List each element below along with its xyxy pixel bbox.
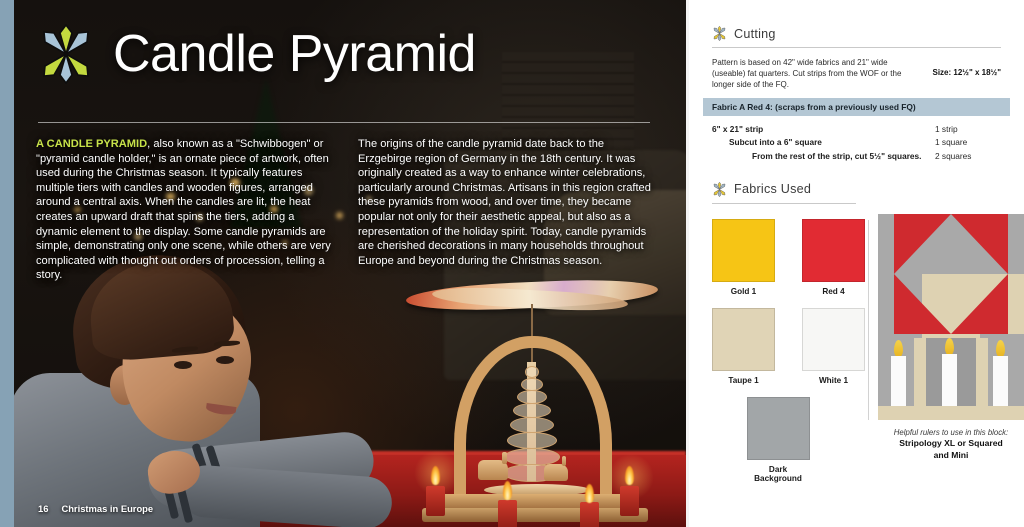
vertical-divider <box>868 220 869 420</box>
cutting-row-label: Subcut into a 6" square <box>712 136 822 149</box>
caption-bold-line-1: Stripology XL or Squared <box>878 438 1024 449</box>
swatch-red-4 <box>802 219 865 282</box>
cutting-row: 6" x 21" strip 1 strip <box>712 123 1001 136</box>
cutting-intro-row: Pattern is based on 42" wide fabrics and… <box>712 57 1001 90</box>
article-paragraph: A CANDLE PYRAMID, also known as a "Schwi… <box>36 137 334 283</box>
fabrics-heading: Fabrics Used <box>734 182 811 196</box>
page-gutter <box>686 0 689 527</box>
cutting-row-qty: 1 square <box>935 136 1001 149</box>
block-taupe-column-left <box>914 338 926 406</box>
swatch-label: Red 4 <box>802 287 865 296</box>
article-column-1: A CANDLE PYRAMID, also known as a "Schwi… <box>36 137 334 283</box>
left-edge-strip <box>0 0 14 527</box>
article-header: Candle Pyramid <box>36 24 476 84</box>
block-size-label: Size: 12½" x 18½" <box>932 57 1001 77</box>
page-title: Candle Pyramid <box>113 28 476 80</box>
block-taupe-bottom <box>878 406 1024 420</box>
swatch-label: Gold 1 <box>712 287 775 296</box>
body-text: The origins of the candle pyramid date b… <box>358 138 651 267</box>
boy-eye <box>174 361 192 369</box>
cutting-section-header: Cutting <box>689 26 1024 41</box>
pinwheel-red-triangle-top <box>894 214 951 274</box>
cutting-row-label: From the rest of the strip, cut 5½" squa… <box>712 150 921 163</box>
cutting-divider <box>712 47 1001 48</box>
candle-flame <box>431 466 440 485</box>
block-candle-flame <box>996 340 1005 357</box>
swatch-row: Gold 1 Red 4 <box>712 219 866 296</box>
block-caption: Helpful rulers to use in this block: Str… <box>878 428 1024 461</box>
six-point-star-icon <box>36 24 96 84</box>
cutting-instruction-list: 6" x 21" strip 1 strip Subcut into a 6" … <box>712 123 1001 163</box>
swatch-cell: White 1 <box>802 308 865 385</box>
footer-book-title: Christmas in Europe <box>61 503 153 514</box>
article-column-2: The origins of the candle pyramid date b… <box>358 137 656 283</box>
red-candle <box>620 486 639 516</box>
cutting-row-label: 6" x 21" strip <box>712 123 763 136</box>
swatch-label: White 1 <box>802 376 865 385</box>
fabrics-divider <box>712 203 856 204</box>
block-candle <box>942 354 957 406</box>
boy-eye <box>216 356 234 364</box>
article-paragraph: The origins of the candle pyramid date b… <box>358 137 656 268</box>
article-columns: A CANDLE PYRAMID, also known as a "Schwi… <box>36 137 656 283</box>
swatch-taupe-1 <box>712 308 775 371</box>
pyramid-deer-antler <box>562 456 566 466</box>
swatch-label: Dark Background <box>747 465 810 483</box>
pyramid-deer-antler <box>502 452 507 464</box>
page-footer: 16 Christmas in Europe <box>38 503 153 514</box>
block-candle <box>993 356 1008 406</box>
swatch-cell: Dark Background <box>747 397 810 483</box>
block-candle-flame <box>894 340 903 357</box>
red-candle <box>580 502 599 527</box>
swatch-cell: Gold 1 <box>712 219 775 296</box>
fabric-swatch-grid: Gold 1 Red 4 Taupe 1 White 1 <box>689 206 866 483</box>
block-candle-flame <box>945 338 954 355</box>
pyramid-base-lower <box>422 508 648 522</box>
boy-photo-subject <box>30 255 360 527</box>
swatch-dark-background <box>747 397 810 460</box>
tree-ring <box>513 403 551 418</box>
swatch-cell: Red 4 <box>802 219 865 296</box>
swatch-cell: Taupe 1 <box>712 308 775 385</box>
swatch-row: Taupe 1 White 1 <box>712 308 866 385</box>
pyramid-deer-figure <box>544 464 568 481</box>
cutting-row-qty: 2 squares <box>935 150 1001 163</box>
red-candle <box>498 500 517 527</box>
tree-ring <box>510 417 554 433</box>
star-icon <box>712 26 727 41</box>
candle-flame <box>625 466 634 485</box>
red-candle <box>426 486 445 516</box>
body-text: , also known as a "Schwibbogen" or "pyra… <box>36 138 331 281</box>
cutting-intro-text: Pattern is based on 42" wide fabrics and… <box>712 57 912 90</box>
star-icon <box>712 182 727 197</box>
pinwheel-red-triangle-left <box>894 274 951 334</box>
cutting-row-qty: 1 strip <box>935 123 1001 136</box>
quilt-block-diagram <box>878 214 1024 420</box>
swatch-white-1 <box>802 308 865 371</box>
right-page: Cutting Pattern is based on 42" wide fab… <box>689 0 1024 527</box>
pinwheel-red-triangle-bottom <box>951 274 1008 334</box>
pinwheel-red-triangle-right <box>951 214 1008 274</box>
cutting-heading: Cutting <box>734 27 776 41</box>
fabrics-and-block: Gold 1 Red 4 Taupe 1 White 1 <box>689 206 1024 483</box>
candle-pyramid-object <box>392 278 674 527</box>
tree-ring <box>507 432 557 449</box>
block-candle <box>891 356 906 406</box>
header-divider <box>38 122 650 123</box>
cutting-row: From the rest of the strip, cut 5½" squa… <box>712 150 1001 163</box>
fabric-a-bar: Fabric A Red 4: (scraps from a previousl… <box>703 98 1010 116</box>
quilt-block-area: Helpful rulers to use in this block: Str… <box>878 206 1024 483</box>
candle-flame <box>503 481 512 500</box>
caption-bold-line-2: and Mini <box>878 450 1024 461</box>
cutting-row: Subcut into a 6" square 1 square <box>712 136 1001 149</box>
tree-ring <box>517 390 547 404</box>
tree-ring <box>525 366 539 378</box>
candle-flame <box>585 484 594 503</box>
lead-in-text: A CANDLE PYRAMID <box>36 138 147 150</box>
magazine-spread: Candle Pyramid A CANDLE PYRAMID, also kn… <box>0 0 1024 527</box>
fabrics-section-header: Fabrics Used <box>689 182 1024 197</box>
left-page: Candle Pyramid A CANDLE PYRAMID, also kn… <box>0 0 686 527</box>
swatch-label: Taupe 1 <box>712 376 775 385</box>
swatch-gold-1 <box>712 219 775 282</box>
caption-italic: Helpful rulers to use in this block: <box>878 428 1024 439</box>
swatch-row: Dark Background <box>712 397 866 483</box>
block-taupe-column-right <box>976 338 988 406</box>
footer-page-number: 16 <box>38 503 48 514</box>
